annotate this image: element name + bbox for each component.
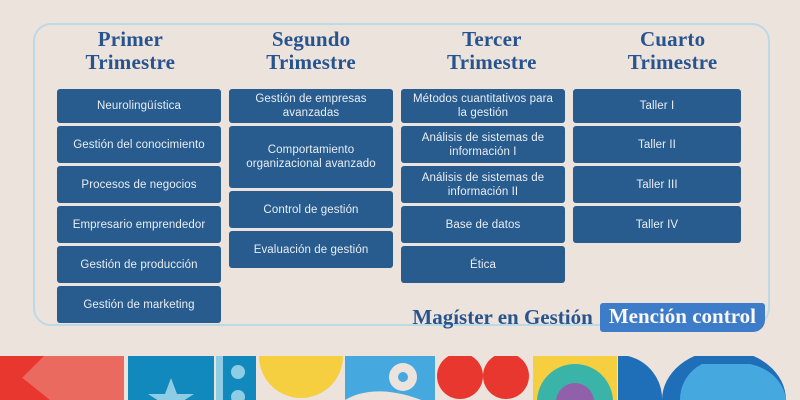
- program-brand: Magíster en Gestión Mención control: [370, 303, 765, 331]
- blue-quarter-circle-tile: [618, 356, 662, 400]
- two-dots-icon: [216, 356, 256, 400]
- arch-icon: [662, 356, 786, 400]
- red-triangle-icon: [0, 356, 124, 400]
- trimester-header-2: Segundo Trimestre: [221, 28, 402, 86]
- quarter-circle-icon: [618, 356, 662, 400]
- trimester-header-4: Cuarto Trimestre: [582, 28, 763, 86]
- course-box[interactable]: Gestión de empresas avanzadas: [229, 89, 393, 123]
- red-circle-a-tile: [437, 356, 483, 400]
- course-box[interactable]: Taller I: [573, 89, 741, 123]
- circle-icon: [437, 356, 483, 400]
- course-box[interactable]: Evaluación de gestión: [229, 231, 393, 268]
- teal-star-square-tile: [128, 356, 214, 400]
- trimester-header-4-line2: Trimestre: [582, 51, 763, 74]
- course-box[interactable]: Procesos de negocios: [57, 166, 221, 203]
- star-icon: [128, 356, 214, 400]
- trimester-header-2-line2: Trimestre: [221, 51, 402, 74]
- trimester-header-4-line1: Cuarto: [582, 28, 763, 51]
- course-box[interactable]: Empresario emprendedor: [57, 206, 221, 243]
- trimester-header-1-line2: Trimestre: [40, 51, 221, 74]
- course-box[interactable]: Taller III: [573, 166, 741, 203]
- course-box[interactable]: Análisis de sistemas de información I: [401, 126, 565, 163]
- blue-eye-square-tile: [345, 356, 435, 400]
- course-box[interactable]: Gestión del conocimiento: [57, 126, 221, 163]
- course-column-2: Gestión de empresas avanzadas Comportami…: [229, 89, 393, 271]
- trimester-headers: Primer Trimestre Segundo Trimestre Terce…: [40, 28, 763, 86]
- course-box[interactable]: Comportamiento organizacional avanzado: [229, 126, 393, 188]
- blue-arch-tile: [662, 356, 786, 400]
- trimester-header-1-line1: Primer: [40, 28, 221, 51]
- course-grid: Neurolingüística Gestión del conocimient…: [57, 89, 741, 241]
- course-box[interactable]: Análisis de sistemas de información II: [401, 166, 565, 203]
- course-box[interactable]: Ética: [401, 246, 565, 283]
- trimester-header-3-line1: Tercer: [402, 28, 583, 51]
- trimester-header-1: Primer Trimestre: [40, 28, 221, 86]
- course-column-4: Taller I Taller II Taller III Taller IV: [573, 89, 741, 246]
- yellow-target-square-tile: [533, 356, 617, 400]
- eye-dot-icon: [345, 356, 435, 400]
- course-column-3: Métodos cuantitativos para la gestión An…: [401, 89, 565, 286]
- course-box[interactable]: Control de gestión: [229, 191, 393, 228]
- course-box[interactable]: Base de datos: [401, 206, 565, 243]
- half-circle-icon: [259, 356, 343, 400]
- trimester-header-3: Tercer Trimestre: [402, 28, 583, 86]
- red-triangle-square-tile: [0, 356, 124, 400]
- course-box[interactable]: Taller IV: [573, 206, 741, 243]
- course-box[interactable]: Métodos cuantitativos para la gestión: [401, 89, 565, 123]
- yellow-half-circle-tile: [259, 356, 343, 400]
- mention-badge: Mención control: [600, 303, 765, 332]
- concentric-target-icon: [533, 356, 617, 400]
- dots-square-tile: [216, 356, 256, 400]
- course-box[interactable]: Gestión de marketing: [57, 286, 221, 323]
- course-box[interactable]: Neurolingüística: [57, 89, 221, 123]
- red-circle-b-tile: [483, 356, 529, 400]
- course-box[interactable]: Gestión de producción: [57, 246, 221, 283]
- trimester-header-2-line1: Segundo: [221, 28, 402, 51]
- decorative-shape-strip: [0, 356, 800, 400]
- circle-icon: [483, 356, 529, 400]
- trimester-header-3-line2: Trimestre: [402, 51, 583, 74]
- course-box[interactable]: Taller II: [573, 126, 741, 163]
- program-title: Magíster en Gestión: [412, 305, 592, 330]
- course-column-1: Neurolingüística Gestión del conocimient…: [57, 89, 221, 326]
